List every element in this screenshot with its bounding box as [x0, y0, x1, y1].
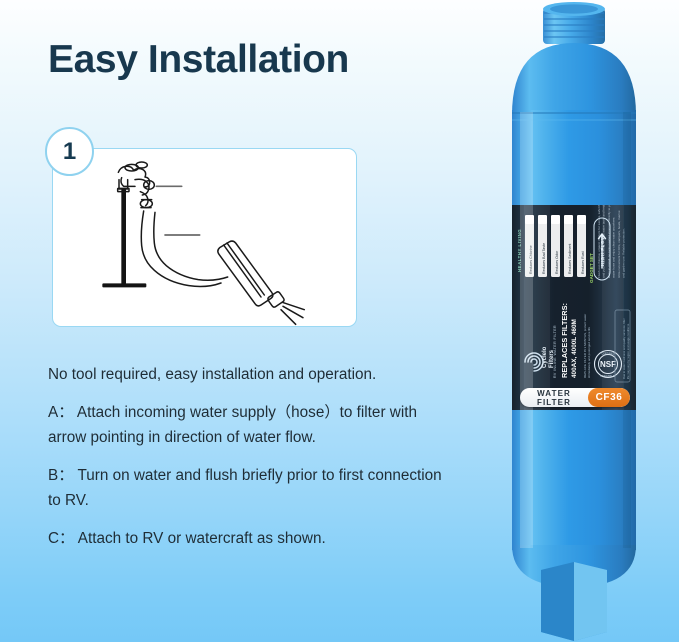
replaces-heading: REPLACES FILTERS:: [560, 303, 569, 378]
filter-bottom-fitting: [541, 562, 607, 641]
instructions-step-c: C： Attach to RV or watercraft as shown.: [48, 526, 448, 551]
svg-text:NSF: NSF: [600, 360, 616, 369]
svg-text:REPLACES FILTERS:: REPLACES FILTERS:: [560, 303, 569, 378]
filter-top-dome: [512, 43, 636, 115]
nsf-certification-seal: NSF CERTIFIED NSF/ANSI 42: [595, 351, 622, 379]
svg-text:Ultra convenient for RVs, camp: Ultra convenient for RVs, campers, boats…: [617, 210, 621, 278]
installation-diagram: [53, 149, 357, 327]
svg-text:CERTIFIED: CERTIFIED: [601, 352, 614, 355]
body-shadow-edge: [623, 112, 631, 548]
page-title: Easy Installation: [48, 38, 349, 82]
pill-label-text: WATER FILTER: [520, 389, 588, 407]
replaces-models: 400AX, 4000L 460M: [571, 319, 578, 378]
instructions-block: No tool required, easy installation and …: [48, 362, 448, 551]
replaces-subtitle: RV INLINE WATER FILTER: [553, 325, 557, 378]
pill-model-badge: CF36: [588, 388, 630, 407]
svg-text:Reduces Bad Taste: Reduces Bad Taste: [542, 243, 546, 274]
product-label-pill: WATER FILTER CF36: [520, 388, 630, 407]
svg-text:HIGH FLOW: HIGH FLOW: [600, 235, 605, 266]
instructions-intro: No tool required, easy installation and …: [48, 362, 448, 387]
svg-text:Reduces Sediment: Reduces Sediment: [568, 244, 572, 274]
svg-text:Cyclelo: Cyclelo: [542, 346, 548, 368]
instructions-step-a: A： Attach incoming water supply（hose）to …: [48, 400, 448, 450]
step-badge-1: 1: [45, 127, 94, 176]
svg-text:Reduces Odor: Reduces Odor: [555, 250, 559, 274]
svg-text:Reduces Rust: Reduces Rust: [581, 251, 585, 274]
filter-neck: [543, 2, 605, 44]
svg-text:GADGET SET: GADGET SET: [589, 253, 594, 283]
svg-text:400AX, 4000L 460M: 400AX, 4000L 460M: [571, 319, 578, 378]
step-number: 1: [63, 140, 76, 164]
svg-text:immediately and prolonged serv: immediately and prolonged service life: [587, 327, 591, 378]
water-filter-product: HEALTHY LIVING Reduces Chlorine: [494, 0, 679, 642]
svg-text:water hose and enjoy clean wat: water hose and enjoy clean water anywher…: [611, 217, 615, 278]
product-infographic: Easy Installation 1: [0, 0, 679, 642]
svg-text:RV INLINE WATER FILTER: RV INLINE WATER FILTER: [553, 325, 557, 378]
installation-diagram-card: Water Pressure Regulator Water Hose: [52, 148, 357, 327]
body-gloss-highlight: [520, 112, 533, 548]
water-filter-illustration: HEALTHY LIVING Reduces Chlorine: [494, 0, 679, 642]
gadget-set-tag: GADGET SET: [589, 253, 594, 283]
svg-text:NSF/ANSI 42: NSF/ANSI 42: [600, 375, 616, 378]
instructions-step-b: B： Turn on water and flush briefly prior…: [48, 463, 448, 513]
